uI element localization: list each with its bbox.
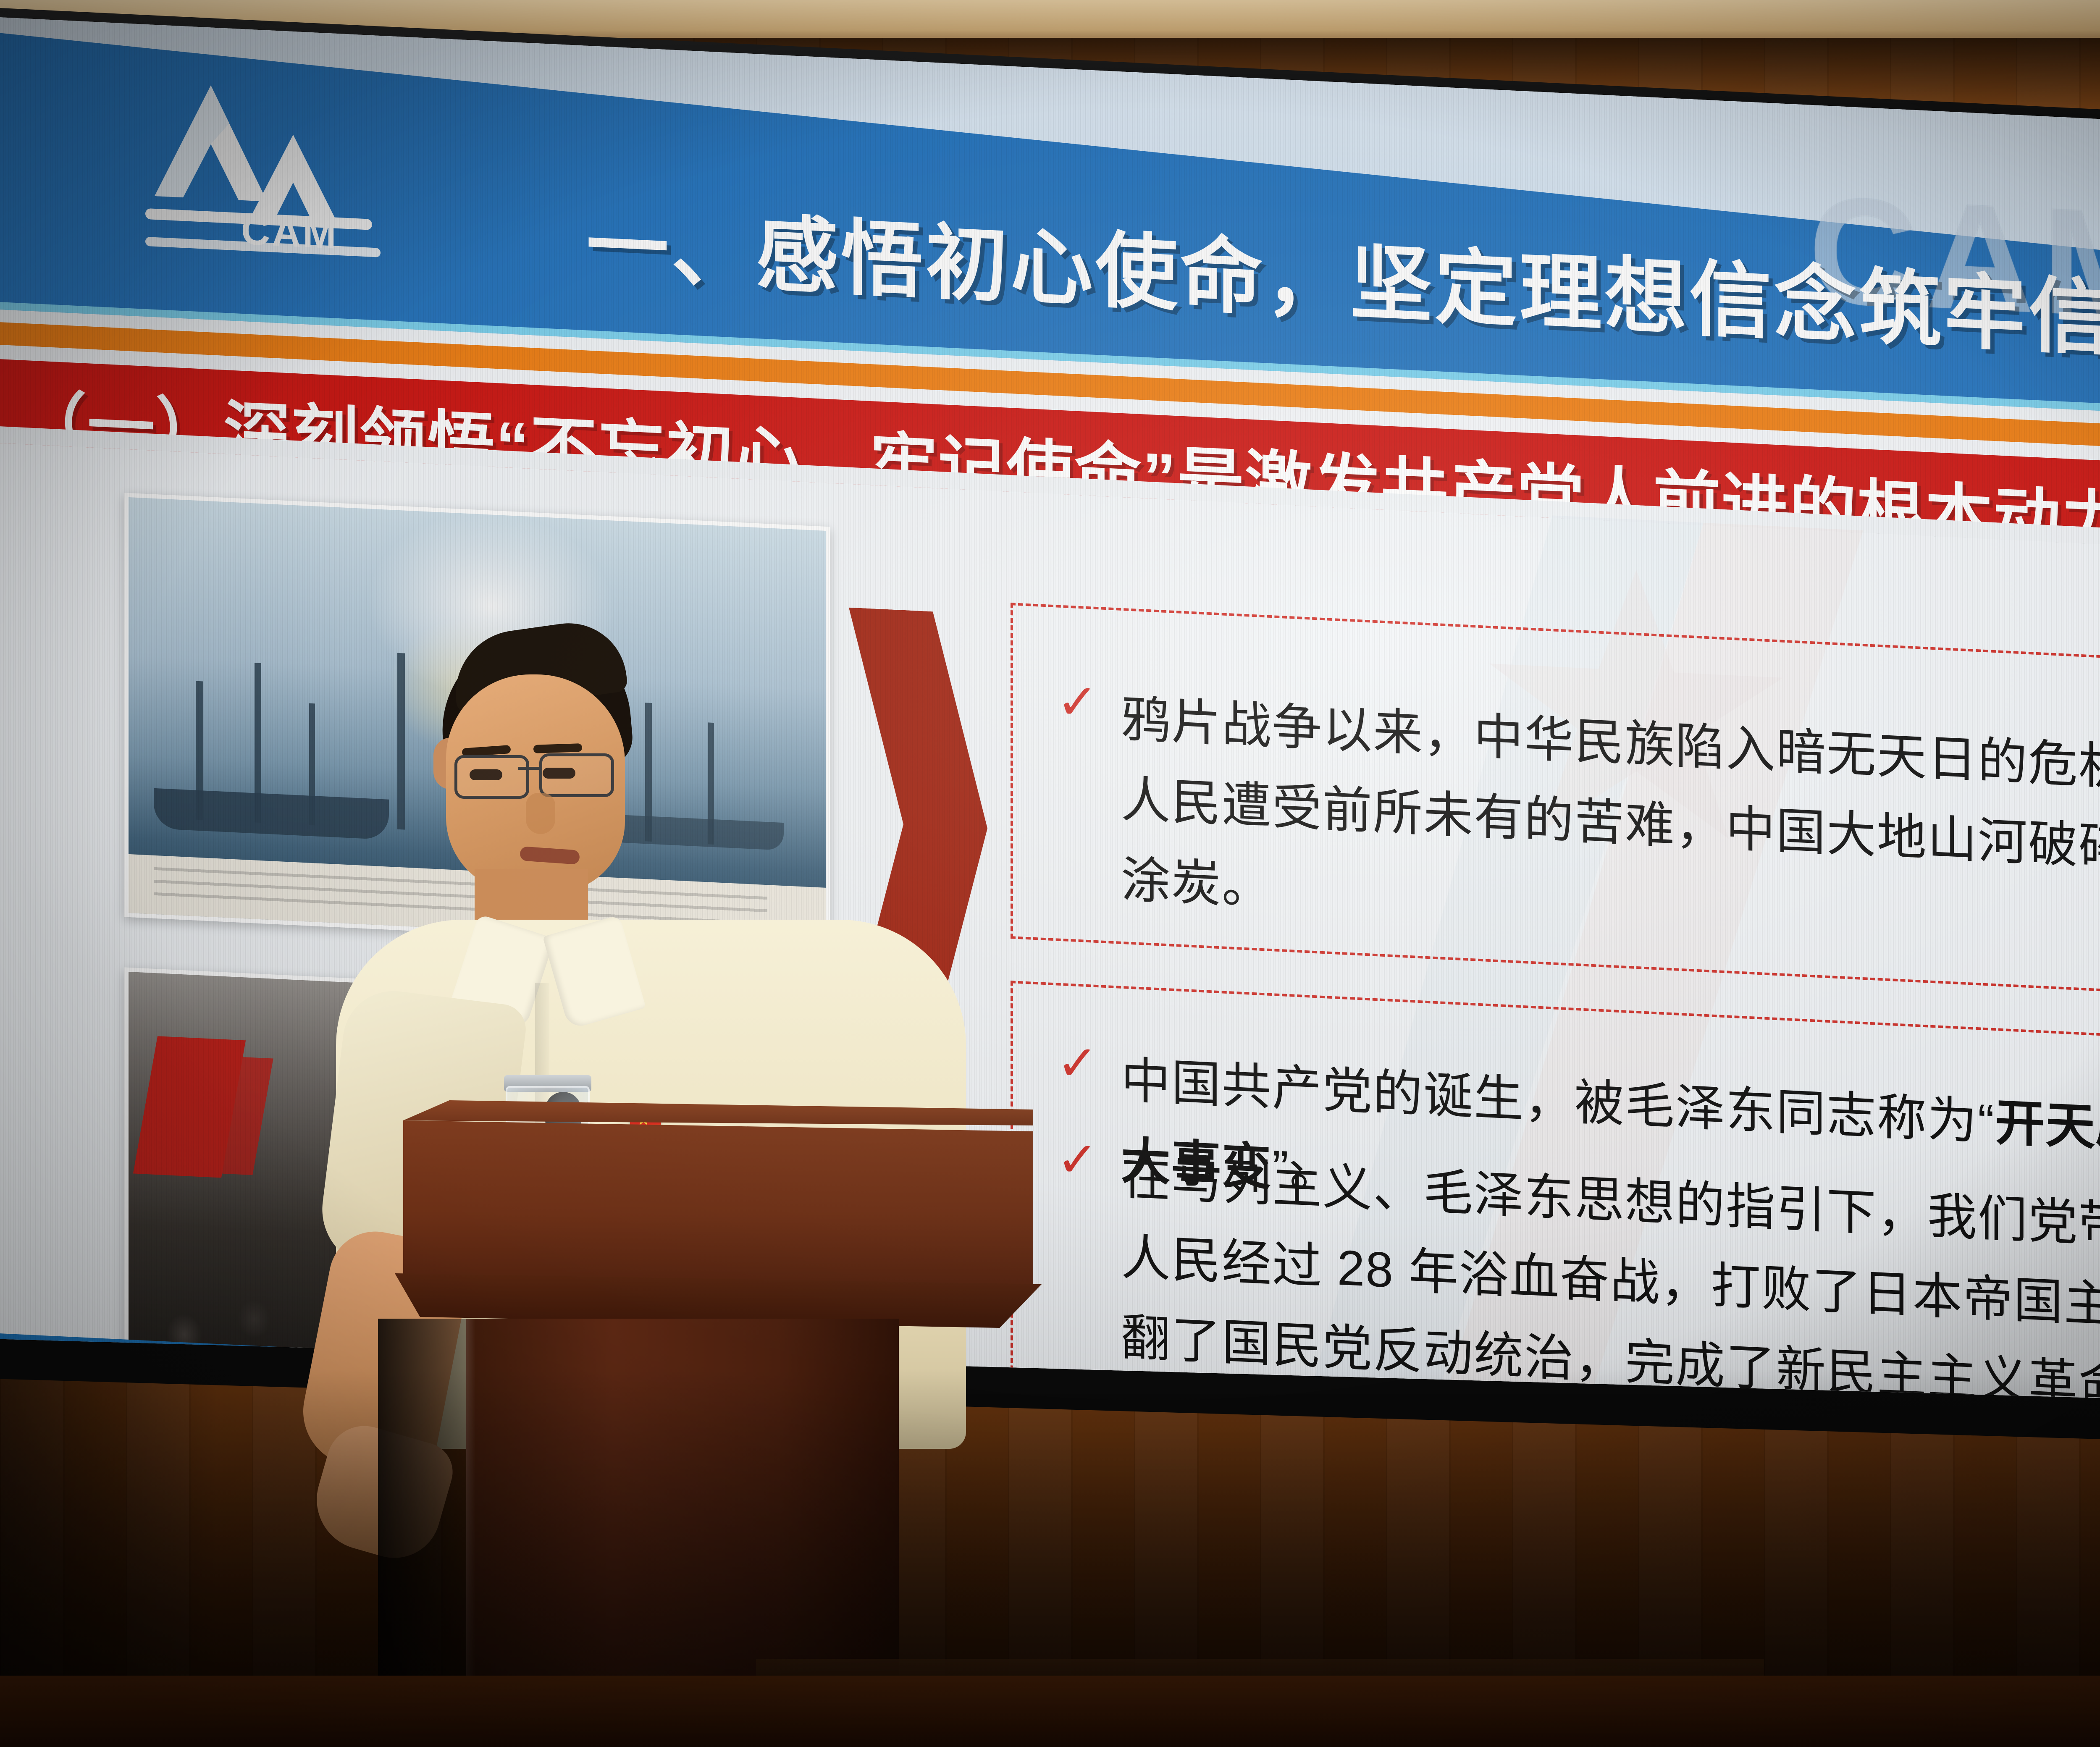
lens-right — [539, 753, 614, 797]
conference-room-scene: CAM CAM 一、感悟初心使命，坚定理想信念筑牢信仰之基 — [0, 0, 2100, 1747]
lens-left — [454, 755, 529, 799]
podium-top-surface — [403, 1100, 1033, 1125]
baseboard — [0, 1676, 2100, 1747]
nose — [526, 793, 555, 834]
podium-front-panel — [403, 1117, 1033, 1293]
eyebrow-right — [533, 743, 583, 753]
slide-canvas: CAM CAM 一、感悟初心使命，坚定理想信念筑牢信仰之基 — [0, 8, 2100, 1414]
cam-logo: CAM — [129, 69, 389, 279]
check-icon: ✓ — [1057, 676, 1098, 919]
glasses-bridge — [518, 767, 539, 770]
presentation-slide: CAM CAM 一、感悟初心使命，坚定理想信念筑牢信仰之基 — [0, 8, 2100, 1414]
svg-text:CAM: CAM — [241, 208, 338, 257]
